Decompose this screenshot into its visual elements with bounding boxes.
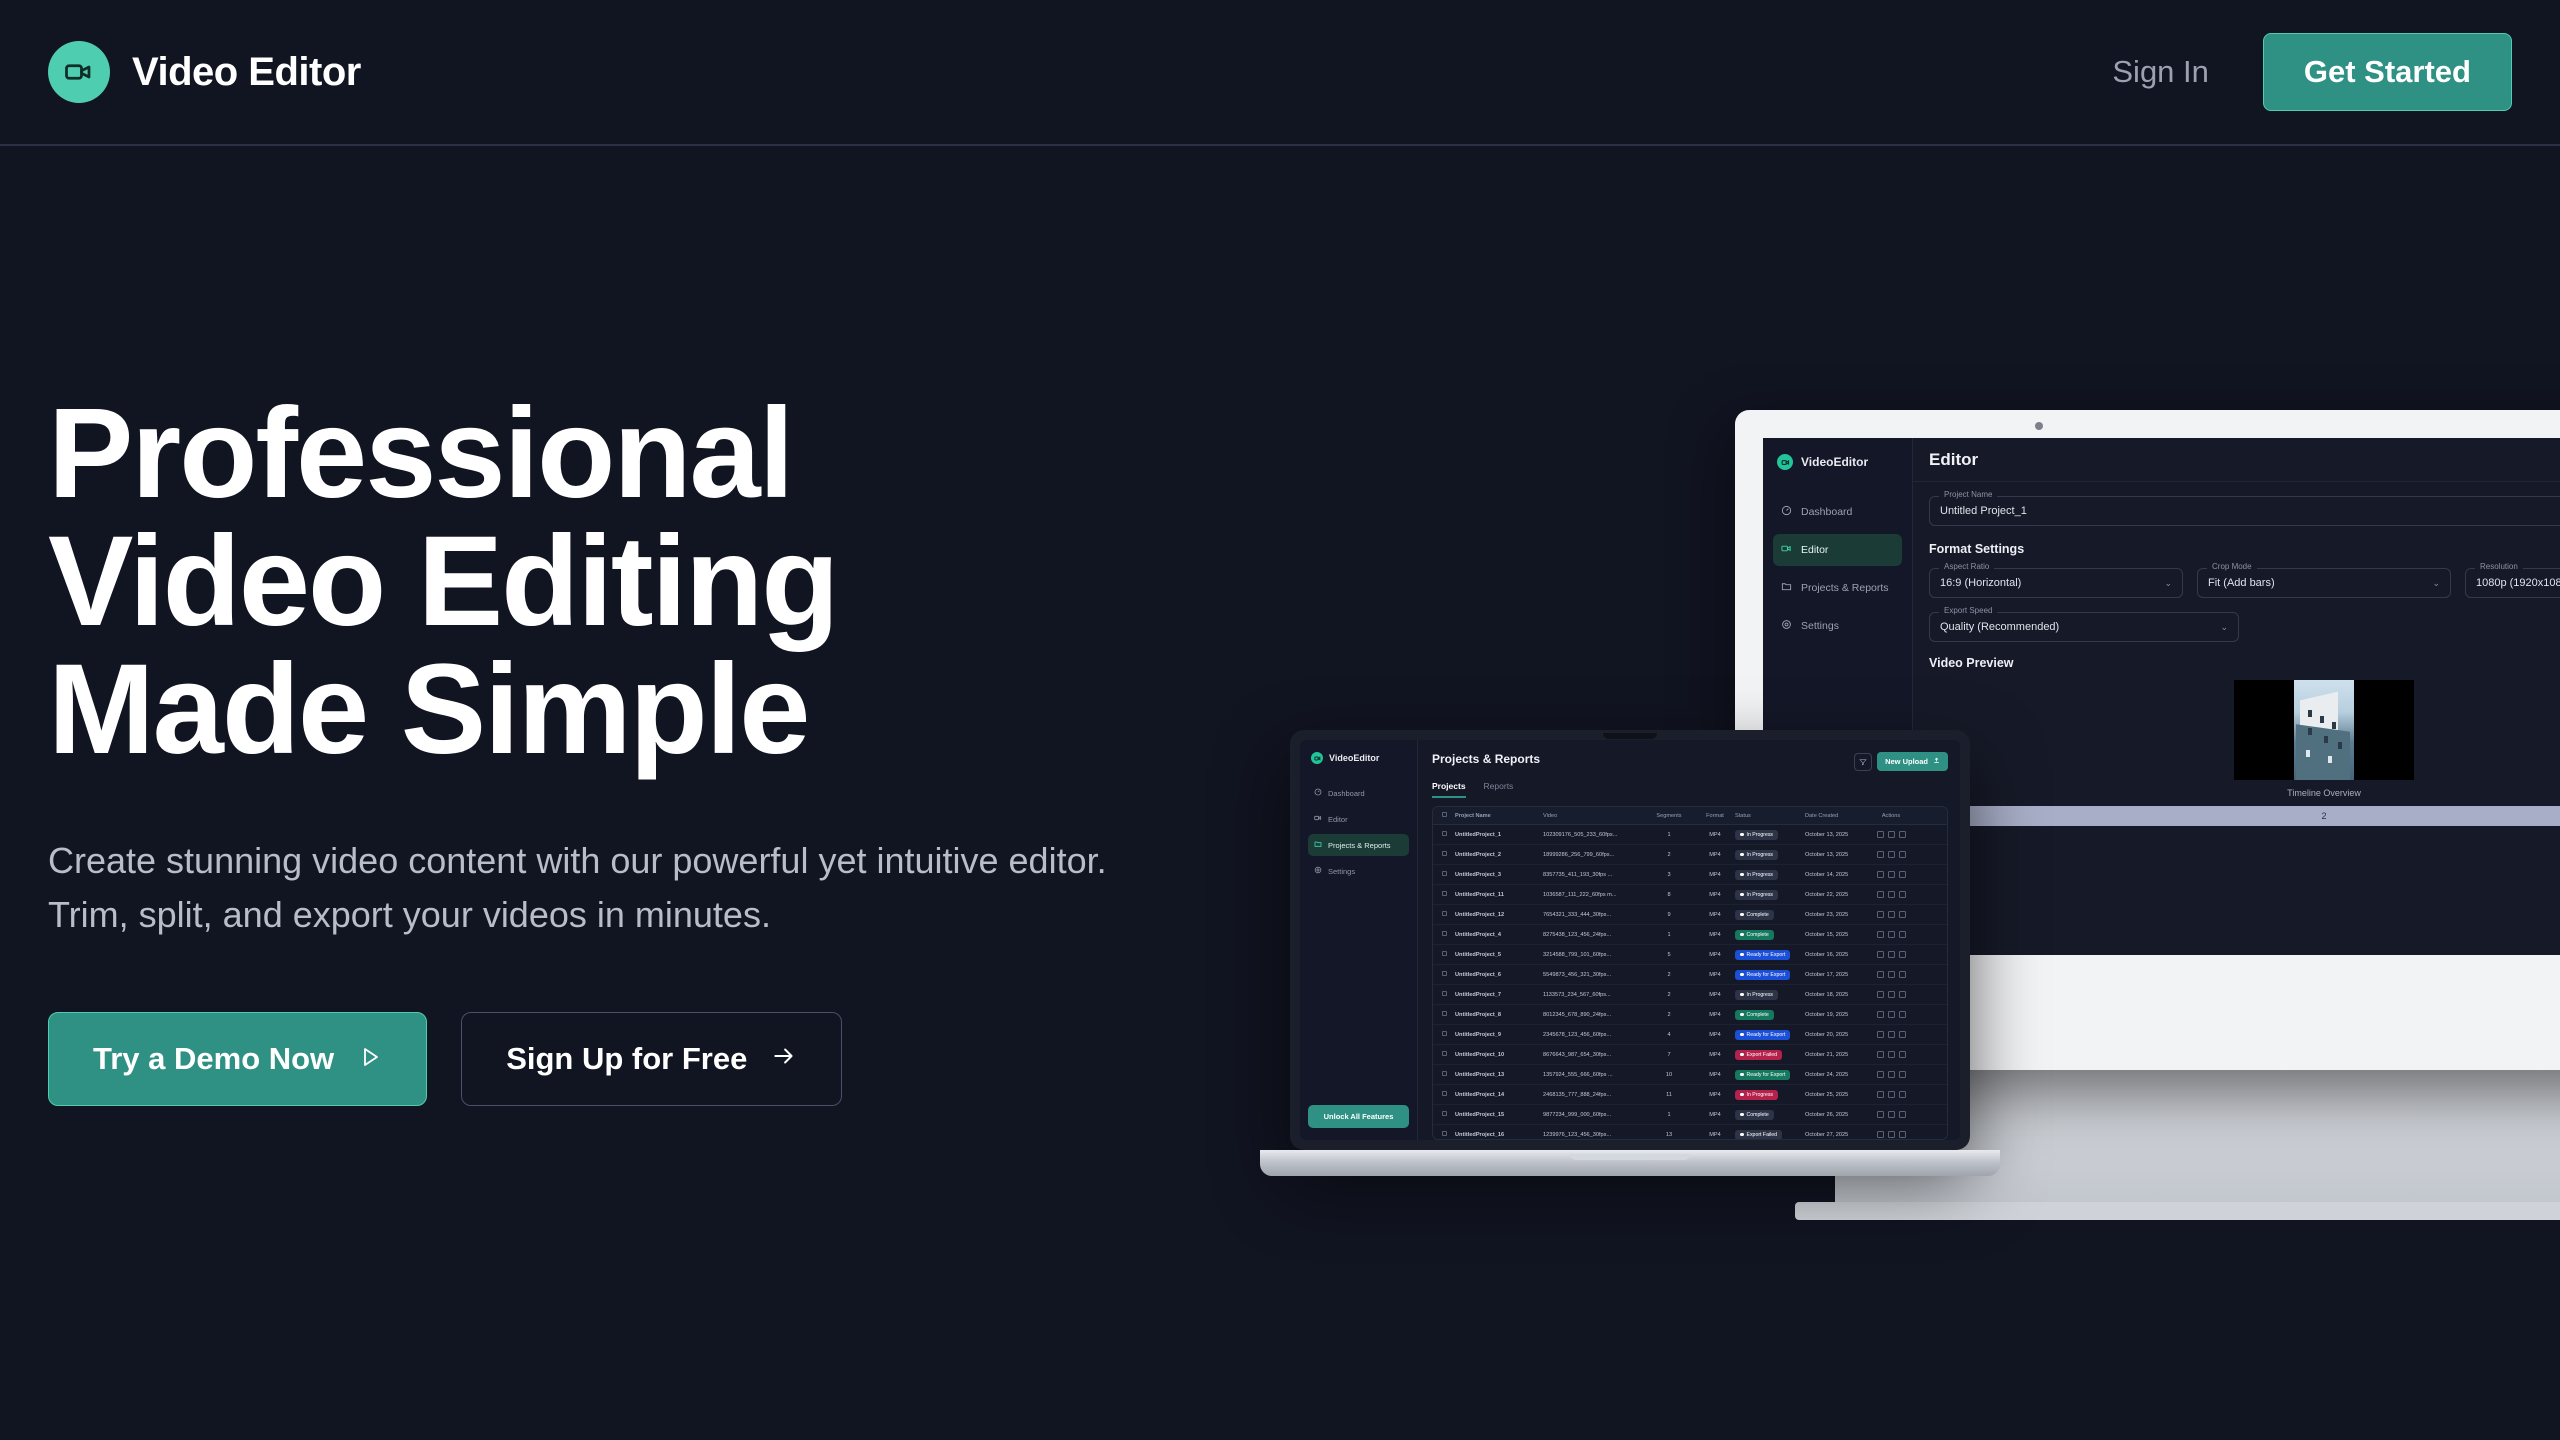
hero-section: Professional Video Editing Made Simple C… xyxy=(48,390,1148,1106)
aspect-ratio-value: 16:9 (Horizontal) xyxy=(1940,577,2021,589)
sidebar-item-dashboard[interactable]: Dashboard xyxy=(1308,782,1409,804)
cell-segments: 1 xyxy=(1643,1112,1695,1118)
delete-icon[interactable] xyxy=(1899,951,1906,958)
cell-format: MP4 xyxy=(1695,932,1735,938)
row-checkbox[interactable] xyxy=(1433,851,1455,858)
delete-icon[interactable] xyxy=(1899,831,1906,838)
cell-video: 2468135_777_888_24fps... xyxy=(1543,1092,1643,1098)
download-icon[interactable] xyxy=(1888,1071,1895,1078)
project-name-label: Project Name xyxy=(1939,490,1997,499)
cell-date-created: October 17, 2025 xyxy=(1805,972,1867,978)
resolution-value: 1080p (1920x1080) xyxy=(2476,577,2560,589)
projects-app-logo: VideoEditor xyxy=(1308,752,1409,764)
cell-date-created: October 22, 2025 xyxy=(1805,892,1867,898)
row-checkbox[interactable] xyxy=(1433,1131,1455,1138)
cell-format: MP4 xyxy=(1695,832,1735,838)
cell-date-created: October 13, 2025 xyxy=(1805,852,1867,858)
status-badge: In Progress xyxy=(1735,850,1778,860)
edit-icon[interactable] xyxy=(1877,851,1884,858)
status-badge: Ready for Export xyxy=(1735,970,1790,980)
laptop-mockup: VideoEditor Dashboard Editor Projects & … xyxy=(1290,730,1970,1150)
cell-status: In Progress xyxy=(1735,870,1805,880)
try-demo-label: Try a Demo Now xyxy=(93,1041,334,1077)
download-icon[interactable] xyxy=(1888,971,1895,978)
video-preview-header: Video Preview Video player size xyxy=(1929,656,2560,670)
edit-icon[interactable] xyxy=(1877,831,1884,838)
crop-mode-label: Crop Mode xyxy=(2207,562,2257,571)
cell-status: Ready for Export xyxy=(1735,1070,1805,1080)
chevron-down-icon: ⌄ xyxy=(2220,622,2228,633)
sign-in-link[interactable]: Sign In xyxy=(2112,54,2209,90)
download-icon[interactable] xyxy=(1888,1131,1895,1138)
cell-project-name: UntitledProject_16 xyxy=(1455,1132,1543,1138)
column-header-video[interactable]: Video xyxy=(1543,813,1643,819)
table-row[interactable]: UntitledProject_111036587_111_222_60fps … xyxy=(1433,885,1947,905)
delete-icon[interactable] xyxy=(1899,1071,1906,1078)
new-upload-button[interactable]: New Upload xyxy=(1877,752,1948,771)
edit-icon[interactable] xyxy=(1877,951,1884,958)
cell-status: Export Failed xyxy=(1735,1050,1805,1060)
download-icon[interactable] xyxy=(1888,871,1895,878)
cell-actions xyxy=(1867,1111,1915,1118)
row-checkbox[interactable] xyxy=(1433,891,1455,898)
cell-actions xyxy=(1867,831,1915,838)
cell-video: 9877234_999_000_60fps... xyxy=(1543,1112,1643,1118)
sidebar-item-settings[interactable]: Settings xyxy=(1308,860,1409,882)
cell-status: Ready for Export xyxy=(1735,1030,1805,1040)
edit-icon[interactable] xyxy=(1877,1091,1884,1098)
table-row[interactable]: UntitledProject_71133573_234_567_60fps..… xyxy=(1433,985,1947,1005)
editor-app-logo-label: VideoEditor xyxy=(1801,455,1868,469)
row-checkbox[interactable] xyxy=(1433,931,1455,938)
cell-date-created: October 23, 2025 xyxy=(1805,912,1867,918)
download-icon[interactable] xyxy=(1888,951,1895,958)
timeline-bar[interactable]: 2 xyxy=(1929,806,2560,826)
format-field-row-2: Export Speed Quality (Recommended) ⌄ xyxy=(1929,612,2239,642)
download-icon[interactable] xyxy=(1888,931,1895,938)
cell-video: 1133573_234_567_60fps... xyxy=(1543,992,1643,998)
export-speed-value: Quality (Recommended) xyxy=(1940,621,2059,633)
edit-icon[interactable] xyxy=(1877,1071,1884,1078)
cell-date-created: October 19, 2025 xyxy=(1805,1012,1867,1018)
status-badge: In Progress xyxy=(1735,830,1778,840)
download-icon[interactable] xyxy=(1888,1031,1895,1038)
building-shape xyxy=(2296,724,2350,780)
table-body: UntitledProject_1102309176_505_233_60fps… xyxy=(1433,825,1947,1140)
editor-app-logo: VideoEditor xyxy=(1773,454,1902,470)
sidebar-item-label: Settings xyxy=(1328,867,1355,876)
cell-actions xyxy=(1867,991,1915,998)
cell-format: MP4 xyxy=(1695,1012,1735,1018)
cell-project-name: UntitledProject_8 xyxy=(1455,1012,1543,1018)
delete-icon[interactable] xyxy=(1899,871,1906,878)
edit-icon[interactable] xyxy=(1877,911,1884,918)
cell-video: 8676643_987_654_30fps... xyxy=(1543,1052,1643,1058)
cell-actions xyxy=(1867,851,1915,858)
cell-date-created: October 14, 2025 xyxy=(1805,872,1867,878)
video-preview-title: Video Preview xyxy=(1929,656,2014,670)
gauge-icon xyxy=(1781,505,1792,519)
folder-icon xyxy=(1314,840,1322,850)
cell-date-created: October 27, 2025 xyxy=(1805,1132,1867,1138)
chevron-down-icon: ⌄ xyxy=(2432,578,2440,589)
hero-subtitle: Create stunning video content with our p… xyxy=(48,834,1108,942)
cell-status: In Progress xyxy=(1735,850,1805,860)
delete-icon[interactable] xyxy=(1899,1011,1906,1018)
status-badge: Ready for Export xyxy=(1735,1030,1790,1040)
cell-format: MP4 xyxy=(1695,1132,1735,1138)
cell-date-created: October 16, 2025 xyxy=(1805,952,1867,958)
unlock-all-features-button[interactable]: Unlock All Features xyxy=(1308,1105,1409,1128)
cell-video: 8357735_411_193_30fps ... xyxy=(1543,872,1643,878)
sidebar-item-editor[interactable]: Editor xyxy=(1773,534,1902,566)
format-settings-heading: Format Settings xyxy=(1929,542,2560,556)
status-badge: Complete xyxy=(1735,1110,1774,1120)
cell-segments: 9 xyxy=(1643,912,1695,918)
edit-icon[interactable] xyxy=(1877,1051,1884,1058)
cell-project-name: UntitledProject_10 xyxy=(1455,1052,1543,1058)
laptop-notch xyxy=(1603,733,1657,739)
heading-line-3: Made Simple xyxy=(48,646,1148,774)
row-checkbox[interactable] xyxy=(1433,971,1455,978)
status-badge: In Progress xyxy=(1735,890,1778,900)
gear-icon xyxy=(1781,619,1792,633)
cell-format: MP4 xyxy=(1695,852,1735,858)
cell-actions xyxy=(1867,1071,1915,1078)
project-name-value: Untitled Project_1 xyxy=(1940,505,2027,517)
cell-segments: 2 xyxy=(1643,972,1695,978)
table-row[interactable]: UntitledProject_127654321_333_444_30fps.… xyxy=(1433,905,1947,925)
header-actions: Sign In Get Started xyxy=(2112,33,2512,111)
cell-segments: 13 xyxy=(1643,1132,1695,1138)
cell-format: MP4 xyxy=(1695,912,1735,918)
delete-icon[interactable] xyxy=(1899,1111,1906,1118)
row-checkbox[interactable] xyxy=(1433,1111,1455,1118)
cell-format: MP4 xyxy=(1695,1052,1735,1058)
cell-project-name: UntitledProject_7 xyxy=(1455,992,1543,998)
project-name-input[interactable]: Project Name Untitled Project_1 xyxy=(1929,496,2560,526)
cell-format: MP4 xyxy=(1695,892,1735,898)
cell-video: 1239976_123_456_30fps... xyxy=(1543,1132,1643,1138)
delete-icon[interactable] xyxy=(1899,911,1906,918)
status-badge: Ready for Export xyxy=(1735,1070,1790,1080)
cell-status: In Progress xyxy=(1735,1090,1805,1100)
projects-table: Project Name Video Segments Format Statu… xyxy=(1432,806,1948,1140)
table-row[interactable]: UntitledProject_161239976_123_456_30fps.… xyxy=(1433,1125,1947,1140)
edit-icon[interactable] xyxy=(1877,1011,1884,1018)
sidebar-item-label: Settings xyxy=(1801,620,1839,632)
cell-project-name: UntitledProject_15 xyxy=(1455,1112,1543,1118)
cell-project-name: UntitledProject_3 xyxy=(1455,872,1543,878)
row-checkbox[interactable] xyxy=(1433,1031,1455,1038)
video-frame-image xyxy=(2294,680,2354,780)
crop-mode-select[interactable]: Crop Mode Fit (Add bars) ⌄ xyxy=(2197,568,2451,598)
cell-format: MP4 xyxy=(1695,1032,1735,1038)
cell-video: 3214588_799_101_60fps... xyxy=(1543,952,1643,958)
table-row[interactable]: UntitledProject_88012345_678_890_24fps..… xyxy=(1433,1005,1947,1025)
download-icon[interactable] xyxy=(1888,911,1895,918)
video-camera-icon xyxy=(1777,454,1793,470)
download-icon[interactable] xyxy=(1888,891,1895,898)
brand-name: Video Editor xyxy=(132,50,361,95)
cell-format: MP4 xyxy=(1695,872,1735,878)
projects-app-logo-label: VideoEditor xyxy=(1329,753,1379,763)
status-badge: Export Failed xyxy=(1735,1130,1782,1140)
cell-date-created: October 15, 2025 xyxy=(1805,932,1867,938)
play-triangle-icon xyxy=(358,1041,382,1077)
table-row[interactable]: UntitledProject_1102309176_505_233_60fps… xyxy=(1433,825,1947,845)
cell-segments: 1 xyxy=(1643,932,1695,938)
chevron-down-icon: ⌄ xyxy=(2164,578,2172,589)
cell-segments: 3 xyxy=(1643,872,1695,878)
video-player[interactable] xyxy=(2234,680,2414,780)
delete-icon[interactable] xyxy=(1899,891,1906,898)
edit-icon[interactable] xyxy=(1877,1131,1884,1138)
cell-segments: 2 xyxy=(1643,1012,1695,1018)
video-camera-icon xyxy=(1314,814,1322,824)
delete-icon[interactable] xyxy=(1899,1051,1906,1058)
projects-page-title: Projects & Reports xyxy=(1432,752,1540,766)
projects-header: Projects & Reports New Upload xyxy=(1432,752,1948,771)
cell-status: Complete xyxy=(1735,930,1805,940)
format-field-row-1: Aspect Ratio 16:9 (Horizontal) ⌄ Crop Mo… xyxy=(1929,568,2560,598)
cell-video: 2345678_123_456_60fps... xyxy=(1543,1032,1643,1038)
cell-actions xyxy=(1867,1051,1915,1058)
cell-status: Complete xyxy=(1735,910,1805,920)
column-header-status[interactable]: Status xyxy=(1735,813,1805,819)
cell-project-name: UntitledProject_2 xyxy=(1455,852,1543,858)
download-icon[interactable] xyxy=(1888,1051,1895,1058)
projects-app: VideoEditor Dashboard Editor Projects & … xyxy=(1300,740,1960,1140)
cell-actions xyxy=(1867,911,1915,918)
table-row[interactable]: UntitledProject_142468135_777_888_24fps.… xyxy=(1433,1085,1947,1105)
video-camera-icon xyxy=(1311,752,1323,764)
cell-status: In Progress xyxy=(1735,830,1805,840)
table-row[interactable]: UntitledProject_131357924_555_666_60fps … xyxy=(1433,1065,1947,1085)
download-icon[interactable] xyxy=(1888,1011,1895,1018)
export-speed-label: Export Speed xyxy=(1939,606,1997,615)
download-icon[interactable] xyxy=(1888,991,1895,998)
filter-icon[interactable] xyxy=(1854,753,1872,771)
hero-cta-row: Try a Demo Now Sign Up for Free xyxy=(48,1012,1148,1106)
column-header-actions: Actions xyxy=(1867,813,1915,819)
table-row[interactable]: UntitledProject_218999286_256_799_60fps.… xyxy=(1433,845,1947,865)
edit-icon[interactable] xyxy=(1877,871,1884,878)
cell-status: Export Failed xyxy=(1735,1130,1805,1140)
cell-segments: 4 xyxy=(1643,1032,1695,1038)
sidebar-item-projects-reports[interactable]: Projects & Reports xyxy=(1773,572,1902,604)
cell-actions xyxy=(1867,1091,1915,1098)
sidebar-item-settings[interactable]: Settings xyxy=(1773,610,1902,642)
product-mockup: VideoEditor Dashboard Editor xyxy=(1360,150,2560,1250)
cell-project-name: UntitledProject_9 xyxy=(1455,1032,1543,1038)
cell-segments: 1 xyxy=(1643,832,1695,838)
sidebar-item-label: Dashboard xyxy=(1328,789,1365,798)
column-header-project-name[interactable]: Project Name xyxy=(1455,813,1543,819)
folder-icon xyxy=(1781,581,1792,595)
video-preview-stage: Timeline Overview xyxy=(1929,680,2560,798)
cell-status: In Progress xyxy=(1735,890,1805,900)
cell-actions xyxy=(1867,971,1915,978)
export-speed-select[interactable]: Export Speed Quality (Recommended) ⌄ xyxy=(1929,612,2239,642)
cell-status: Complete xyxy=(1735,1110,1805,1120)
crop-mode-value: Fit (Add bars) xyxy=(2208,577,2275,589)
cell-format: MP4 xyxy=(1695,1072,1735,1078)
status-badge: Complete xyxy=(1735,930,1774,940)
try-demo-button[interactable]: Try a Demo Now xyxy=(48,1012,427,1106)
table-row[interactable]: UntitledProject_38357735_411_193_30fps .… xyxy=(1433,865,1947,885)
cell-video: 8275438_123_456_24fps... xyxy=(1543,932,1643,938)
row-checkbox[interactable] xyxy=(1433,991,1455,998)
table-row[interactable]: UntitledProject_92345678_123_456_60fps..… xyxy=(1433,1025,1947,1045)
sidebar-item-dashboard[interactable]: Dashboard xyxy=(1773,496,1902,528)
sidebar-item-label: Editor xyxy=(1328,815,1348,824)
gear-icon xyxy=(1314,866,1322,876)
cell-segments: 5 xyxy=(1643,952,1695,958)
row-checkbox[interactable] xyxy=(1433,911,1455,918)
edit-icon[interactable] xyxy=(1877,931,1884,938)
delete-icon[interactable] xyxy=(1899,931,1906,938)
cell-date-created: October 25, 2025 xyxy=(1805,1092,1867,1098)
cell-project-name: UntitledProject_12 xyxy=(1455,912,1543,918)
sign-up-button[interactable]: Sign Up for Free xyxy=(461,1012,842,1106)
row-checkbox[interactable] xyxy=(1433,1051,1455,1058)
editor-body: Project Name Untitled Project_1 Format S… xyxy=(1913,482,2560,955)
cell-actions xyxy=(1867,1011,1915,1018)
edit-icon[interactable] xyxy=(1877,1031,1884,1038)
cell-project-name: UntitledProject_6 xyxy=(1455,972,1543,978)
cell-video: 8012345_678_890_24fps... xyxy=(1543,1012,1643,1018)
download-icon[interactable] xyxy=(1888,851,1895,858)
delete-icon[interactable] xyxy=(1899,851,1906,858)
cell-date-created: October 20, 2025 xyxy=(1805,1032,1867,1038)
delete-icon[interactable] xyxy=(1899,1091,1906,1098)
cell-segments: 11 xyxy=(1643,1092,1695,1098)
cell-status: Complete xyxy=(1735,1010,1805,1020)
cell-project-name: UntitledProject_13 xyxy=(1455,1072,1543,1078)
table-header-row: Project Name Video Segments Format Statu… xyxy=(1433,807,1947,825)
cell-format: MP4 xyxy=(1695,952,1735,958)
delete-icon[interactable] xyxy=(1899,1131,1906,1138)
sign-up-label: Sign Up for Free xyxy=(506,1041,747,1077)
projects-toolbar: New Upload xyxy=(1854,752,1948,771)
video-camera-icon xyxy=(48,41,110,103)
cell-format: MP4 xyxy=(1695,1092,1735,1098)
row-checkbox[interactable] xyxy=(1433,871,1455,878)
select-all-checkbox[interactable] xyxy=(1433,812,1455,819)
table-row[interactable]: UntitledProject_53214588_799_101_60fps..… xyxy=(1433,945,1947,965)
cell-video: 5549873_456_321_30fps... xyxy=(1543,972,1643,978)
brand-logo[interactable]: Video Editor xyxy=(48,41,361,103)
status-badge: In Progress xyxy=(1735,1090,1778,1100)
cell-segments: 2 xyxy=(1643,852,1695,858)
column-header-date-created[interactable]: Date Created xyxy=(1805,813,1867,819)
row-checkbox[interactable] xyxy=(1433,1011,1455,1018)
cell-segments: 8 xyxy=(1643,892,1695,898)
table-row[interactable]: UntitledProject_108676643_987_654_30fps.… xyxy=(1433,1045,1947,1065)
row-checkbox[interactable] xyxy=(1433,951,1455,958)
editor-main: Editor Save Exp xyxy=(1913,438,2560,955)
delete-icon[interactable] xyxy=(1899,971,1906,978)
edit-icon[interactable] xyxy=(1877,1111,1884,1118)
status-badge: Complete xyxy=(1735,1010,1774,1020)
resolution-select[interactable]: Resolution 1080p (1920x1080) ⌄ xyxy=(2465,568,2560,598)
tab-projects[interactable]: Projects xyxy=(1432,781,1466,798)
table-row[interactable]: UntitledProject_159877234_999_000_60fps.… xyxy=(1433,1105,1947,1125)
edit-icon[interactable] xyxy=(1877,891,1884,898)
cell-status: Ready for Export xyxy=(1735,970,1805,980)
cell-project-name: UntitledProject_11 xyxy=(1455,892,1543,898)
gauge-icon xyxy=(1314,788,1322,798)
cell-actions xyxy=(1867,951,1915,958)
cell-segments: 10 xyxy=(1643,1072,1695,1078)
download-icon[interactable] xyxy=(1888,1091,1895,1098)
delete-icon[interactable] xyxy=(1899,1031,1906,1038)
laptop-screen: VideoEditor Dashboard Editor Projects & … xyxy=(1300,740,1960,1140)
timeline-overview-label: Timeline Overview xyxy=(2287,788,2361,798)
download-icon[interactable] xyxy=(1888,1111,1895,1118)
row-checkbox[interactable] xyxy=(1433,1091,1455,1098)
cell-project-name: UntitledProject_4 xyxy=(1455,932,1543,938)
aspect-ratio-select[interactable]: Aspect Ratio 16:9 (Horizontal) ⌄ xyxy=(1929,568,2183,598)
video-camera-icon xyxy=(1781,543,1792,557)
heading-line-1: Professional xyxy=(48,390,1148,518)
sidebar-item-projects-reports[interactable]: Projects & Reports xyxy=(1308,834,1409,856)
cell-video: 1357924_555_666_60fps ... xyxy=(1543,1072,1643,1078)
cell-format: MP4 xyxy=(1695,1112,1735,1118)
cell-project-name: UntitledProject_5 xyxy=(1455,952,1543,958)
download-icon[interactable] xyxy=(1888,831,1895,838)
edit-icon[interactable] xyxy=(1877,971,1884,978)
cell-date-created: October 26, 2025 xyxy=(1805,1112,1867,1118)
table-row[interactable]: UntitledProject_65549873_456_321_30fps..… xyxy=(1433,965,1947,985)
row-checkbox[interactable] xyxy=(1433,1071,1455,1078)
site-header: Video Editor Sign In Get Started xyxy=(0,0,2560,146)
new-upload-label: New Upload xyxy=(1885,757,1928,766)
cell-date-created: October 18, 2025 xyxy=(1805,992,1867,998)
cell-project-name: UntitledProject_1 xyxy=(1455,832,1543,838)
cell-actions xyxy=(1867,871,1915,878)
status-badge: Complete xyxy=(1735,910,1774,920)
sidebar-item-label: Projects & Reports xyxy=(1801,582,1889,594)
heading-line-2: Video Editing xyxy=(48,518,1148,646)
resolution-label: Resolution xyxy=(2475,562,2523,571)
cell-actions xyxy=(1867,1131,1915,1138)
edit-icon[interactable] xyxy=(1877,991,1884,998)
cell-format: MP4 xyxy=(1695,972,1735,978)
status-badge: Export Failed xyxy=(1735,1050,1782,1060)
aspect-ratio-label: Aspect Ratio xyxy=(1939,562,1994,571)
status-badge: Ready for Export xyxy=(1735,950,1790,960)
delete-icon[interactable] xyxy=(1899,991,1906,998)
cell-segments: 2 xyxy=(1643,992,1695,998)
laptop-deck-notch xyxy=(1570,1154,1690,1160)
sidebar-item-label: Editor xyxy=(1801,544,1828,556)
get-started-button[interactable]: Get Started xyxy=(2263,33,2512,111)
cell-actions xyxy=(1867,1031,1915,1038)
column-header-format[interactable]: Format xyxy=(1695,813,1735,819)
column-header-segments[interactable]: Segments xyxy=(1643,813,1695,819)
cell-video: 102309176_505_233_60fps... xyxy=(1543,832,1643,838)
tab-reports[interactable]: Reports xyxy=(1484,781,1514,798)
sidebar-item-editor[interactable]: Editor xyxy=(1308,808,1409,830)
webcam-dot-icon xyxy=(2035,422,2043,430)
table-row[interactable]: UntitledProject_48275438_123_456_24fps..… xyxy=(1433,925,1947,945)
projects-sidebar: VideoEditor Dashboard Editor Projects & … xyxy=(1300,740,1418,1140)
cell-date-created: October 24, 2025 xyxy=(1805,1072,1867,1078)
laptop-deck xyxy=(1260,1150,2000,1176)
row-checkbox[interactable] xyxy=(1433,831,1455,838)
